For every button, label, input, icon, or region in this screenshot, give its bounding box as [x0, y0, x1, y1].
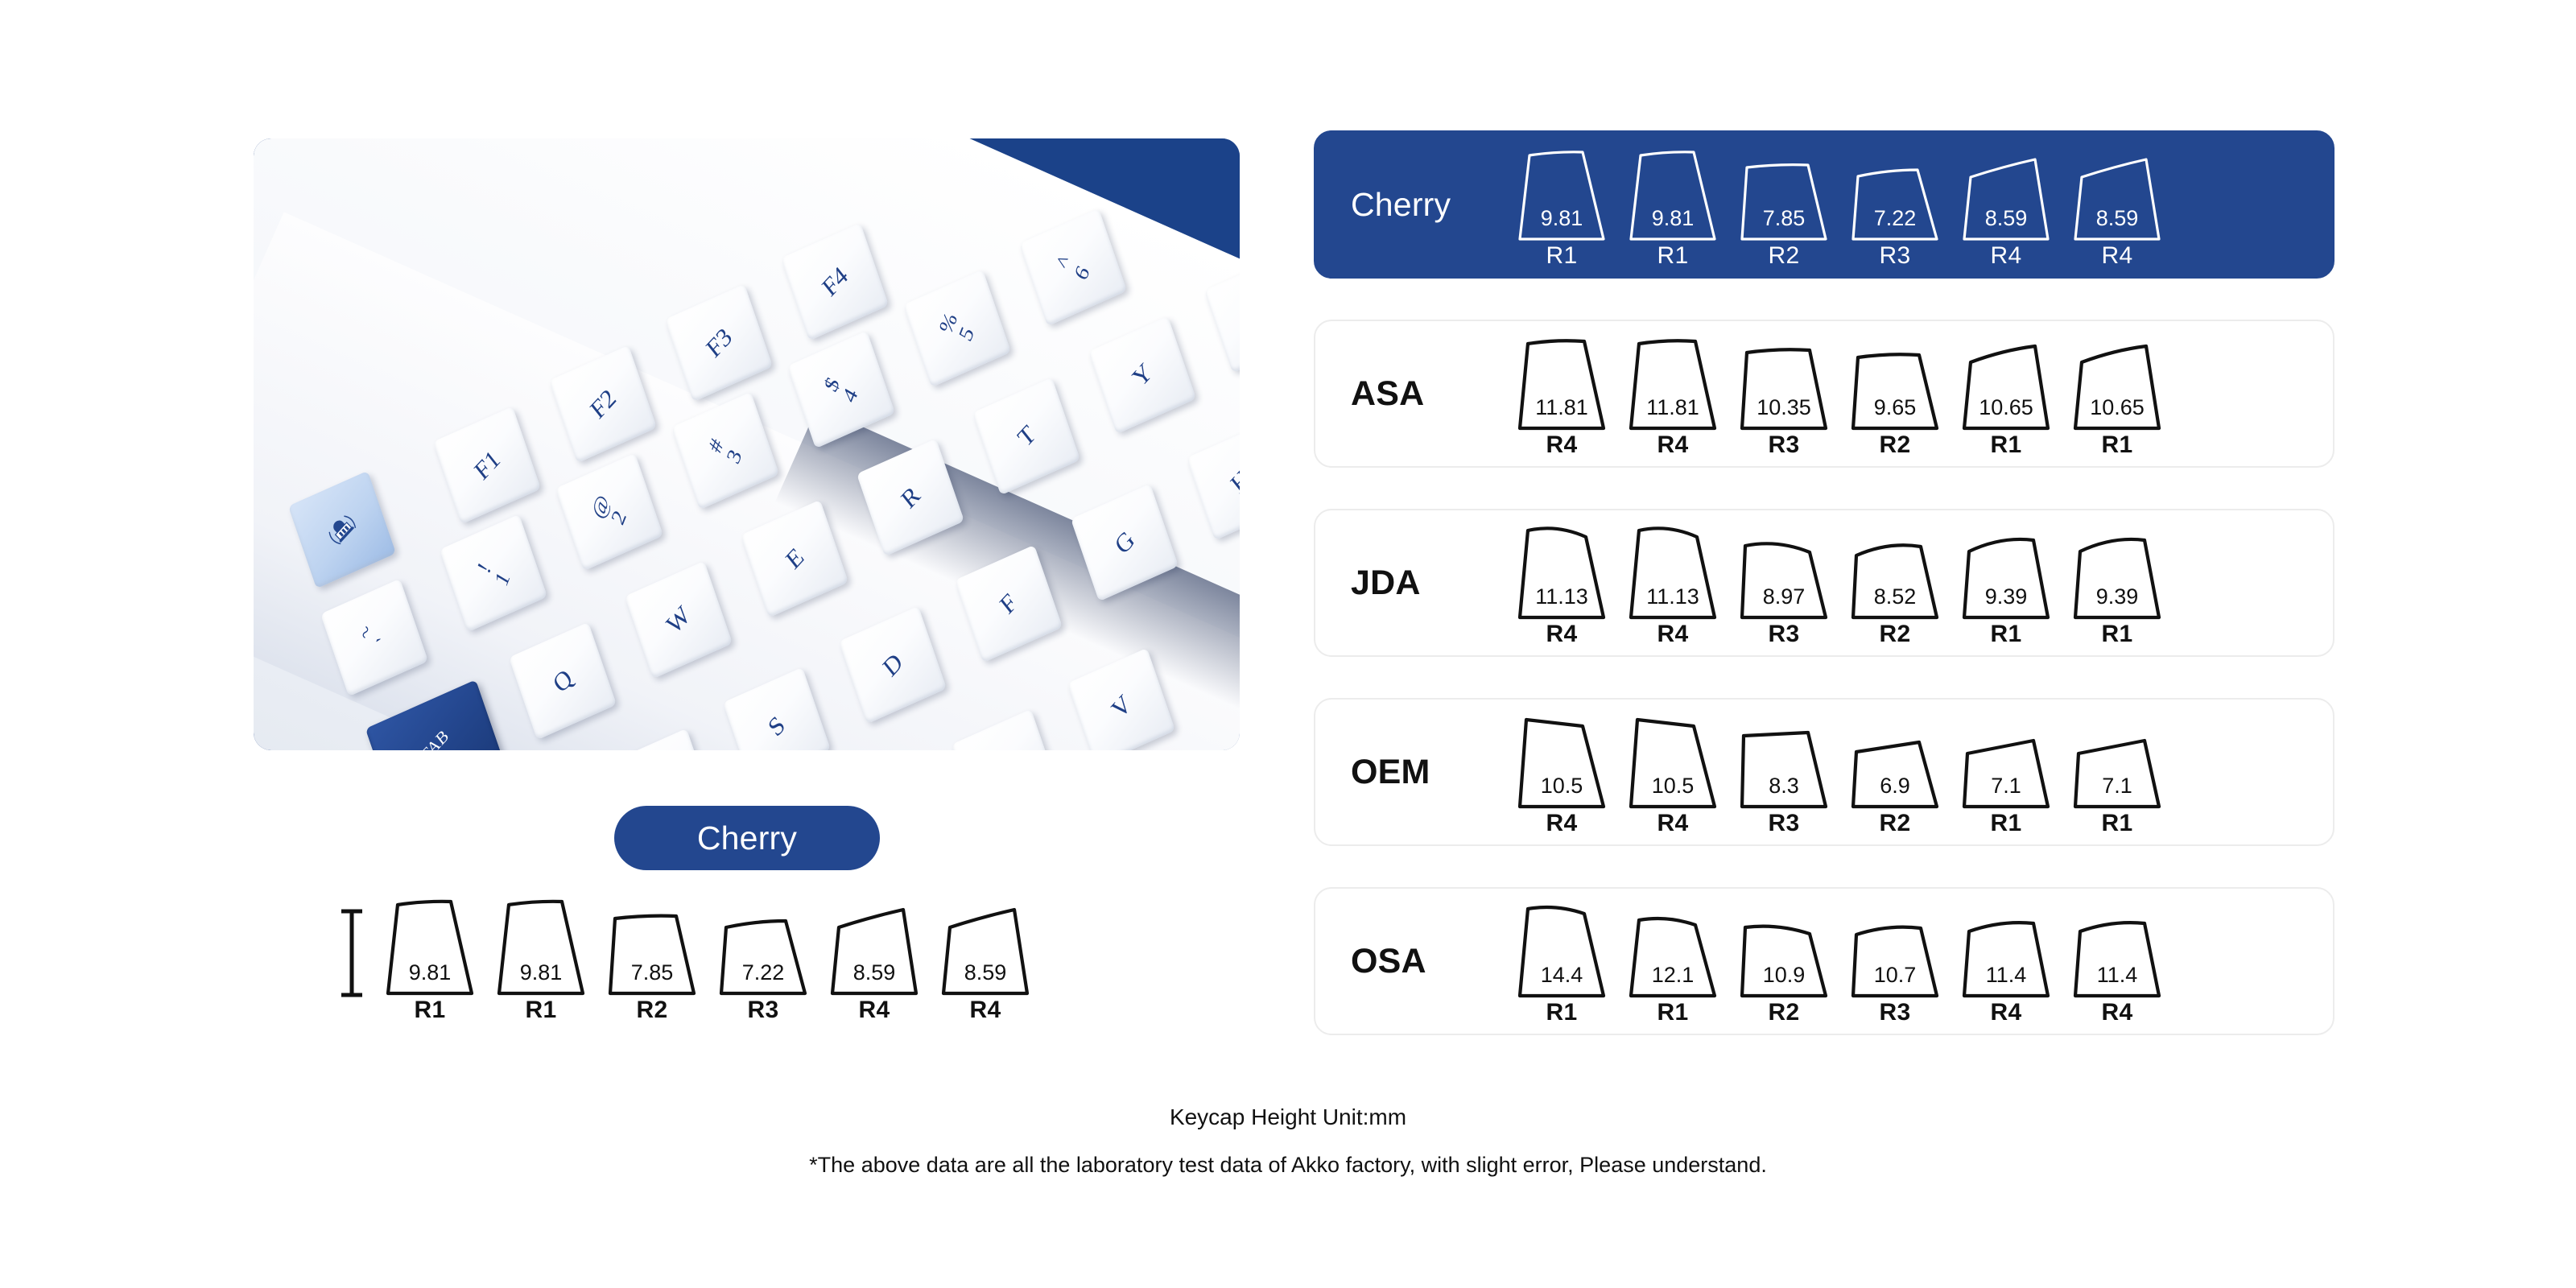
- profile-card-name: Cherry: [1315, 186, 1517, 224]
- keycap-height-value: 11.4: [1961, 963, 2051, 988]
- keycap-g: G: [1071, 484, 1179, 601]
- keycap-row-label: R2: [637, 997, 668, 1024]
- keycap-r: R: [857, 439, 964, 556]
- keycap-profile-shape: 7.85R2: [1739, 151, 1829, 270]
- keycap-legend: R: [896, 480, 925, 514]
- keycap-profile-shape: 8.59R4: [940, 900, 1030, 1024]
- keycap-profile-shape: 8.3R3: [1739, 718, 1829, 837]
- keycap-legend: D: [877, 647, 908, 683]
- keycap-row-label: R4: [1657, 810, 1689, 837]
- profile-card-name: JDA: [1315, 563, 1517, 603]
- keycap-height-value: 7.1: [2072, 774, 2162, 799]
- keycap-height-value: 9.81: [496, 960, 586, 985]
- keycap-profile-shape: 8.59R4: [2072, 151, 2162, 270]
- keycap-profile-shape: 10.5R4: [1517, 718, 1607, 837]
- keycap-f: F: [955, 545, 1063, 663]
- profile-card-name: OSA: [1315, 942, 1517, 981]
- keycap-a: A: [607, 729, 715, 750]
- keycap-e: E: [741, 500, 848, 617]
- keycap-tab: TAB: [365, 679, 504, 750]
- keycap-profile-shape: 7.22R3: [718, 900, 808, 1024]
- selected-profile-pill[interactable]: Cherry: [614, 806, 880, 870]
- keycap-legend: V: [1106, 689, 1137, 725]
- keycap-legend: F4: [817, 261, 853, 303]
- keycap-legend: Q: [547, 663, 578, 700]
- keycap-height-value: 9.65: [1850, 395, 1940, 420]
- keycap--: %5: [903, 270, 1011, 387]
- keycap-d: D: [839, 606, 947, 724]
- keycap-legend: G: [1109, 525, 1140, 561]
- keycap-height-value: 8.97: [1739, 584, 1829, 609]
- keycap-row-label: R3: [1880, 999, 1911, 1026]
- keycap-w: W: [625, 561, 733, 679]
- footer-disclaimer: *The above data are all the laboratory t…: [0, 1153, 2576, 1178]
- keycap-profile-shape: 11.13R4: [1517, 529, 1607, 648]
- profile-card-jda[interactable]: JDA11.13R411.13R48.97R38.52R29.39R19.39R…: [1314, 509, 2334, 657]
- measured-keycap-row: 9.81R19.81R17.85R27.22R38.59R48.59R4: [338, 900, 1151, 1029]
- keyboard-product-photo: F1F2F3F4~`!1@2#3$4%5^6TABQWERTYUCAPS LOC…: [254, 138, 1240, 750]
- keycap-legend: F1: [469, 444, 506, 486]
- keycap-height-value: 10.9: [1739, 963, 1829, 988]
- keycap-row-label: R3: [1880, 242, 1911, 270]
- profile-card-oem[interactable]: OEM10.5R410.5R48.3R36.9R27.1R17.1R1: [1314, 698, 2334, 846]
- keycap-profile-shape: 9.81R1: [1517, 151, 1607, 270]
- keycap-height-value: 11.13: [1517, 584, 1607, 609]
- keycap-height-value: 10.65: [2072, 395, 2162, 420]
- keycap-height-value: 10.7: [1850, 963, 1940, 988]
- keycap-t: T: [972, 378, 1080, 495]
- keycap-profile-shape: 10.65R1: [2072, 340, 2162, 459]
- keycap-profile-shape: 11.13R4: [1628, 529, 1718, 648]
- keycap-esc: [288, 471, 396, 588]
- keycap-profile-shape: 10.35R3: [1739, 340, 1829, 459]
- profile-card-caps: 10.5R410.5R48.3R36.9R27.1R17.1R1: [1517, 707, 2162, 837]
- keycap-row-label: R1: [2102, 621, 2133, 648]
- keycap-height-value: 7.22: [1850, 206, 1940, 231]
- keycap-profile-shape: 11.81R4: [1628, 340, 1718, 459]
- keycap-s: S: [723, 667, 831, 750]
- keycap-profile-shape: 9.81R1: [1628, 151, 1718, 270]
- keycap-height-value: 8.52: [1850, 584, 1940, 609]
- keycap-row-label: R1: [1991, 621, 2022, 648]
- keycap-height-value: 7.85: [607, 960, 697, 985]
- keycap-row-label: R4: [1991, 999, 2022, 1026]
- keycap-profile-shape: 7.85R2: [607, 900, 697, 1024]
- profile-card-name: ASA: [1315, 374, 1517, 414]
- keycap-profile-shape: 7.22R3: [1850, 151, 1940, 270]
- keycap-height-value: 10.5: [1628, 774, 1718, 799]
- keycap-height-value: 10.65: [1961, 395, 2051, 420]
- keycap-f2: F2: [549, 345, 657, 463]
- keycap-profile-shape: 10.5R4: [1628, 718, 1718, 837]
- keycap-legend: TAB: [417, 725, 453, 750]
- keycap-legend: F3: [701, 322, 737, 364]
- keycap-profile-comparison-page: F1F2F3F4~`!1@2#3$4%5^6TABQWERTYUCAPS LOC…: [0, 0, 2576, 1288]
- keycap-height-value: 10.35: [1739, 395, 1829, 420]
- keycap-legend: S: [763, 710, 791, 743]
- keycap-profile-shape: 10.65R1: [1961, 340, 2051, 459]
- profile-card-asa[interactable]: ASA11.81R411.81R410.35R39.65R210.65R110.…: [1314, 320, 2334, 468]
- keycap-height-value: 8.59: [2072, 206, 2162, 231]
- keycap-height-value: 6.9: [1850, 774, 1940, 799]
- keycap-profile-shape: 11.4R4: [2072, 907, 2162, 1026]
- profile-card-cherry[interactable]: Cherry9.81R19.81R17.85R27.22R38.59R48.59…: [1314, 130, 2334, 279]
- selected-profile-label: Cherry: [697, 819, 797, 857]
- height-measure-ibeam-icon: [338, 908, 365, 998]
- keycap--: @2: [555, 453, 663, 571]
- keycap-profile-shape: 12.1R1: [1628, 907, 1718, 1026]
- keycap-legend: H: [1225, 464, 1240, 500]
- keycap-height-value: 10.5: [1517, 774, 1607, 799]
- keycap-legend: E: [780, 542, 808, 576]
- keycap-profile-shape: 9.81R1: [496, 900, 586, 1024]
- keycap-row-label: R4: [1546, 810, 1578, 837]
- keycap-height-value: 9.39: [1961, 584, 2051, 609]
- profile-card-caps: 11.81R411.81R410.35R39.65R210.65R110.65R…: [1517, 328, 2162, 459]
- keycap-q: Q: [509, 622, 617, 740]
- keycap-h: H: [1187, 423, 1240, 540]
- keycap-row-label: R1: [1991, 431, 2022, 459]
- keycap-legend: F2: [585, 383, 621, 425]
- keycap-row-label: R2: [1769, 999, 1800, 1026]
- keycap-height-value: 9.81: [1628, 206, 1718, 231]
- santorini-logo-icon: [316, 502, 367, 556]
- keycap-row-label: R3: [1769, 810, 1800, 837]
- keycap-height-value: 7.85: [1739, 206, 1829, 231]
- keycap-f1: F1: [433, 407, 541, 524]
- keycap-row-label: R4: [859, 997, 890, 1024]
- keycap-profile-shape: 11.4R4: [1961, 907, 2051, 1026]
- keycap-height-value: 9.81: [1517, 206, 1607, 231]
- keycap-legend: Y: [1127, 357, 1158, 394]
- profile-card-caps: 11.13R411.13R48.97R38.52R29.39R19.39R1: [1517, 518, 2162, 648]
- keycap-row-label: R3: [1769, 431, 1800, 459]
- keycap-profile-shape: 6.9R2: [1850, 718, 1940, 837]
- keycap-profile-shape: 9.39R1: [1961, 529, 2051, 648]
- keycap-legend: W: [662, 600, 696, 640]
- keycap-f3: F3: [665, 284, 773, 402]
- keycap--: #3: [671, 392, 779, 510]
- keycap-row-label: R4: [1657, 621, 1689, 648]
- keycap-row-label: R1: [1657, 999, 1689, 1026]
- keycap--: $4: [787, 331, 895, 448]
- keycap-row-label: R1: [1546, 242, 1578, 270]
- keycap-profile-shape: 10.9R2: [1739, 907, 1829, 1026]
- keycap-row-label: R4: [2102, 242, 2133, 270]
- keycap-profile-shape: 8.59R4: [829, 900, 919, 1024]
- keycap-height-value: 11.81: [1517, 395, 1607, 420]
- keycap-v: V: [1067, 648, 1175, 750]
- keycap-profile-shape: 9.81R1: [385, 900, 475, 1024]
- keycap-row-label: R4: [970, 997, 1001, 1024]
- keycap-row-label: R4: [1657, 431, 1689, 459]
- keycap-row-label: R3: [748, 997, 779, 1024]
- keycap-profile-shape: 10.7R3: [1850, 907, 1940, 1026]
- keycap-profile-shape: 11.81R4: [1517, 340, 1607, 459]
- keycap-height-value: 7.22: [718, 960, 808, 985]
- keycap--: ~`: [320, 579, 428, 696]
- keycap-height-value: 12.1: [1628, 963, 1718, 988]
- keycap-c: C: [952, 709, 1059, 750]
- keycap-profile-shape: 14.4R1: [1517, 907, 1607, 1026]
- keycap-height-value: 9.39: [2072, 584, 2162, 609]
- keycap-legend: F: [995, 588, 1022, 621]
- keycap-profile-shape: 8.59R4: [1961, 151, 2051, 270]
- footer-unit-note: Keycap Height Unit:mm: [0, 1104, 2576, 1130]
- keycap-height-value: 9.81: [385, 960, 475, 985]
- profile-card-name: OEM: [1315, 753, 1517, 792]
- keycap-row-label: R4: [1991, 242, 2022, 270]
- profile-card-caps: 14.4R112.1R110.9R210.7R311.4R411.4R4: [1517, 896, 2162, 1026]
- keycap-row-label: R1: [1991, 810, 2022, 837]
- keycap-height-value: 7.1: [1961, 774, 2051, 799]
- keycap-profile-shape: 7.1R1: [1961, 718, 2051, 837]
- keycap-height-value: 8.59: [829, 960, 919, 985]
- keycap-height-value: 14.4: [1517, 963, 1607, 988]
- keycap-profile-shape: 9.65R2: [1850, 340, 1940, 459]
- keycap-row-label: R2: [1880, 810, 1911, 837]
- keycap-height-value: 11.13: [1628, 584, 1718, 609]
- keycap-height-value: 11.81: [1628, 395, 1718, 420]
- keycap-f4: F4: [781, 223, 889, 341]
- keycap-height-value: 8.59: [940, 960, 1030, 985]
- keycap-row-label: R1: [1546, 999, 1578, 1026]
- keycap-row-label: R1: [415, 997, 446, 1024]
- keycap-row-label: R4: [1546, 621, 1578, 648]
- keycap-row-label: R4: [2102, 999, 2133, 1026]
- profile-cards-list: Cherry9.81R19.81R17.85R27.22R38.59R48.59…: [1314, 130, 2334, 1076]
- profile-card-osa[interactable]: OSA14.4R112.1R110.9R210.7R311.4R411.4R4: [1314, 887, 2334, 1035]
- keycap-height-value: 8.3: [1739, 774, 1829, 799]
- keycap-profile-shape: 8.52R2: [1850, 529, 1940, 648]
- keycap-row-label: R1: [526, 997, 557, 1024]
- keycap-y: Y: [1088, 316, 1196, 434]
- keycap-row-label: R1: [1657, 242, 1689, 270]
- profile-card-caps: 9.81R19.81R17.85R27.22R38.59R48.59R4: [1517, 139, 2162, 270]
- keycap--: ^6: [1019, 208, 1127, 326]
- keycap-row-label: R2: [1880, 621, 1911, 648]
- keycap-u: U: [1204, 255, 1240, 373]
- keycap-height-value: 11.4: [2072, 963, 2162, 988]
- measured-caps-group: 9.81R19.81R17.85R27.22R38.59R48.59R4: [385, 900, 1030, 1024]
- keycap-row-label: R4: [1546, 431, 1578, 459]
- keycap-row-label: R1: [2102, 810, 2133, 837]
- keycap-profile-shape: 8.97R3: [1739, 529, 1829, 648]
- keycap-height-value: 8.59: [1961, 206, 2051, 231]
- keycap-row-label: R2: [1769, 242, 1800, 270]
- keycap-profile-shape: 7.1R1: [2072, 718, 2162, 837]
- keycap-legend: T: [1012, 419, 1040, 453]
- keyboard-keycaps-group: F1F2F3F4~`!1@2#3$4%5^6TABQWERTYUCAPS LOC…: [254, 138, 1240, 750]
- keycap-profile-shape: 9.39R1: [2072, 529, 2162, 648]
- keycap-row-label: R1: [2102, 431, 2133, 459]
- keycap--: !1: [440, 514, 547, 632]
- keycap-row-label: R3: [1769, 621, 1800, 648]
- keycap-row-label: R2: [1880, 431, 1911, 459]
